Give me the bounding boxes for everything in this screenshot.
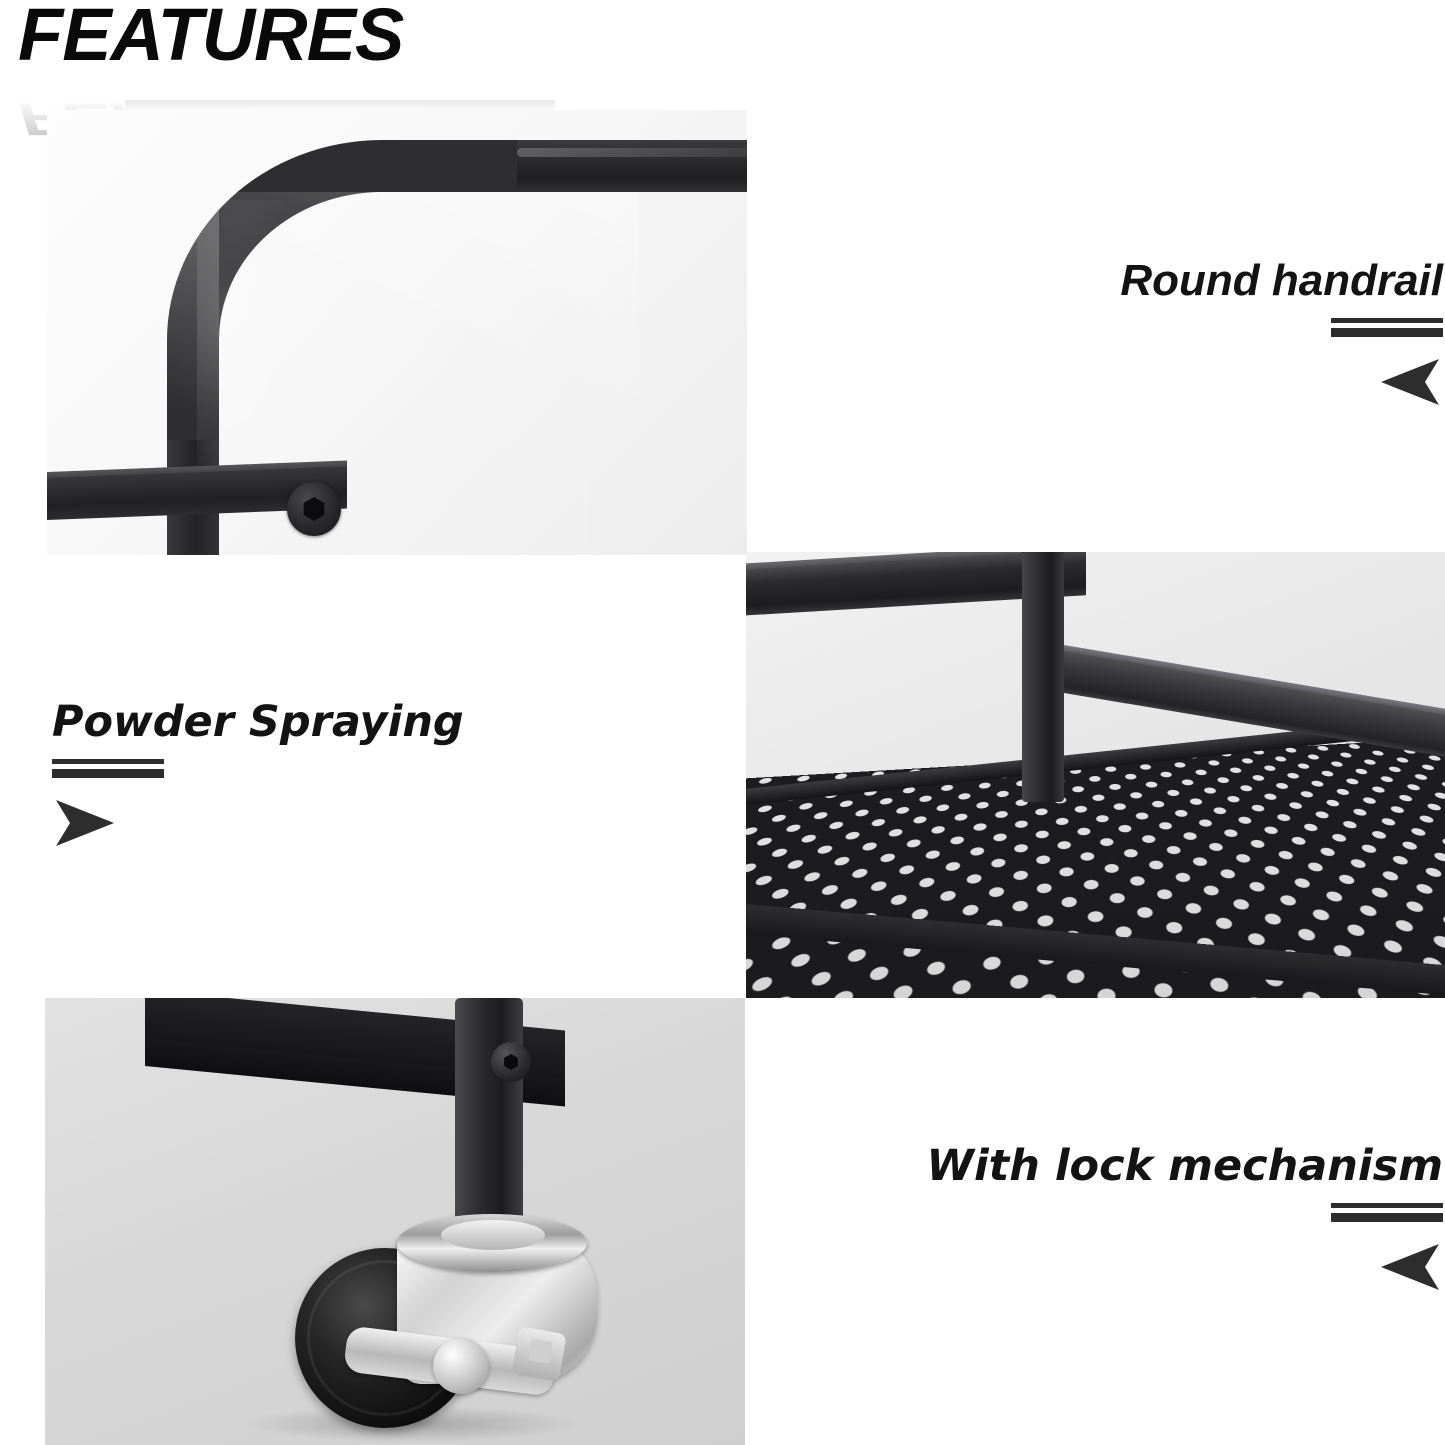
callout-bar-thin [52,759,164,764]
callout-bars [1331,318,1443,337]
shelf-vertical-post [1022,552,1064,802]
callout-bar-thick [1331,328,1443,337]
callout-bar-thick [1331,1213,1443,1222]
caster-pivot-bolt [433,1338,489,1394]
arrow-left-icon [1013,359,1443,405]
callout-round-handrail: Round handrail [1013,258,1443,405]
perforated-shelf-photo [746,552,1445,998]
hex-screw-icon [287,482,341,536]
callout-label-with-lock-mechanism: With lock mechanism [903,1144,1443,1189]
callout-with-lock-mechanism: With lock mechanism [903,1144,1443,1290]
callout-bar-thin [1331,318,1443,323]
callout-label-powder-spraying: Powder Spraying [52,700,522,745]
page-title: FEATURES [18,0,638,72]
callout-bar-thin [1331,1203,1443,1208]
callout-powder-spraying: Powder Spraying [52,700,522,846]
caster-leg-post [455,998,523,1230]
page-title-block: FEATURES FEATURES [18,0,638,108]
callout-bars [1331,1203,1443,1222]
caster-collar-inner [441,1220,545,1250]
callout-bars [52,759,164,778]
caster-wheel-photo [45,998,745,1445]
hex-screw-icon [491,1042,531,1082]
callout-label-round-handrail: Round handrail [1013,258,1443,304]
callout-bar-thick [52,769,164,778]
handrail-highlight [517,148,747,157]
caster-brake-hook [511,1326,567,1382]
handrail-photo [47,110,747,555]
arrow-right-icon [52,800,522,846]
arrow-left-icon [903,1244,1443,1290]
